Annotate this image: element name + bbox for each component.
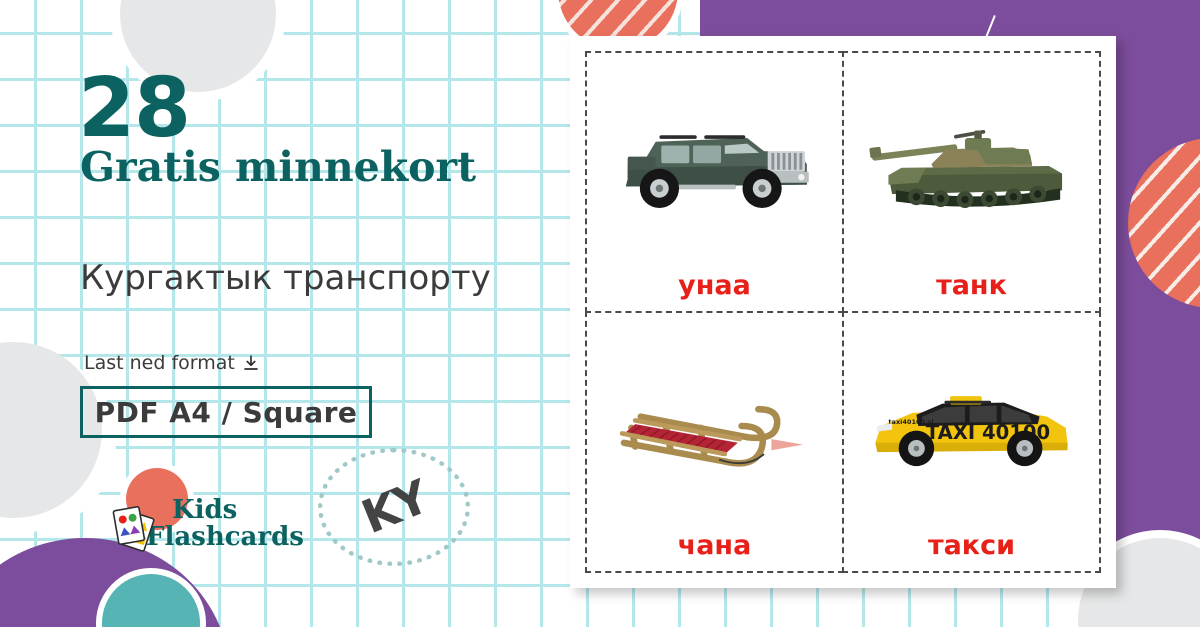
svg-text:taxi40100.si: taxi40100.si	[888, 418, 933, 426]
military-tank-image	[848, 59, 1095, 272]
format-option-button[interactable]: PDF A4 / Square	[80, 386, 372, 438]
download-icon	[242, 354, 260, 372]
format-option-label: PDF A4 / Square	[95, 396, 358, 429]
flashcard-sheet-preview[interactable]: унаа	[570, 36, 1116, 588]
yellow-taxi-image: TAXI 40100 taxi40100.si	[848, 319, 1095, 532]
flashcard-tank[interactable]: танк	[842, 51, 1101, 313]
flashcard-taxi[interactable]: TAXI 40100 taxi40100.si	[842, 311, 1101, 573]
logo-line-2: Flashcards	[146, 524, 304, 551]
flashcards-promo-page: 28 Gratis minnekort Кургактык транспорту…	[0, 0, 1200, 627]
topic-subtitle: Кургактык транспорту	[80, 258, 491, 298]
language-stamp: KY	[318, 448, 470, 566]
flashcard-caption: танк	[936, 272, 1007, 307]
decorative-purple-column-right	[1104, 0, 1200, 610]
flashcards-stack-icon	[106, 496, 162, 552]
page-title: Gratis minnekort	[80, 147, 476, 188]
flashcard-count: 28	[78, 68, 190, 150]
language-stamp-label: KY	[354, 470, 434, 544]
kids-flashcards-logo[interactable]: Kids Flashcards	[106, 496, 304, 552]
flashcard-sled[interactable]: чана	[585, 311, 844, 573]
logo-line-1: Kids	[172, 495, 237, 525]
flashcard-caption: унаа	[678, 272, 751, 307]
flashcard-unaa[interactable]: унаа	[585, 51, 844, 313]
flashcard-caption: такси	[928, 532, 1015, 567]
intro-panel: 28 Gratis minnekort Кургактык транспорту…	[0, 0, 560, 627]
logo-wordmark: Kids Flashcards	[172, 497, 304, 550]
flashcard-caption: чана	[678, 532, 752, 567]
download-format-text: Last ned format	[84, 352, 235, 374]
wooden-sled-image	[591, 319, 838, 532]
flashcard-grid: унаа	[586, 52, 1100, 572]
download-format-label: Last ned format	[84, 352, 260, 374]
suv-hummer-image	[591, 59, 838, 272]
